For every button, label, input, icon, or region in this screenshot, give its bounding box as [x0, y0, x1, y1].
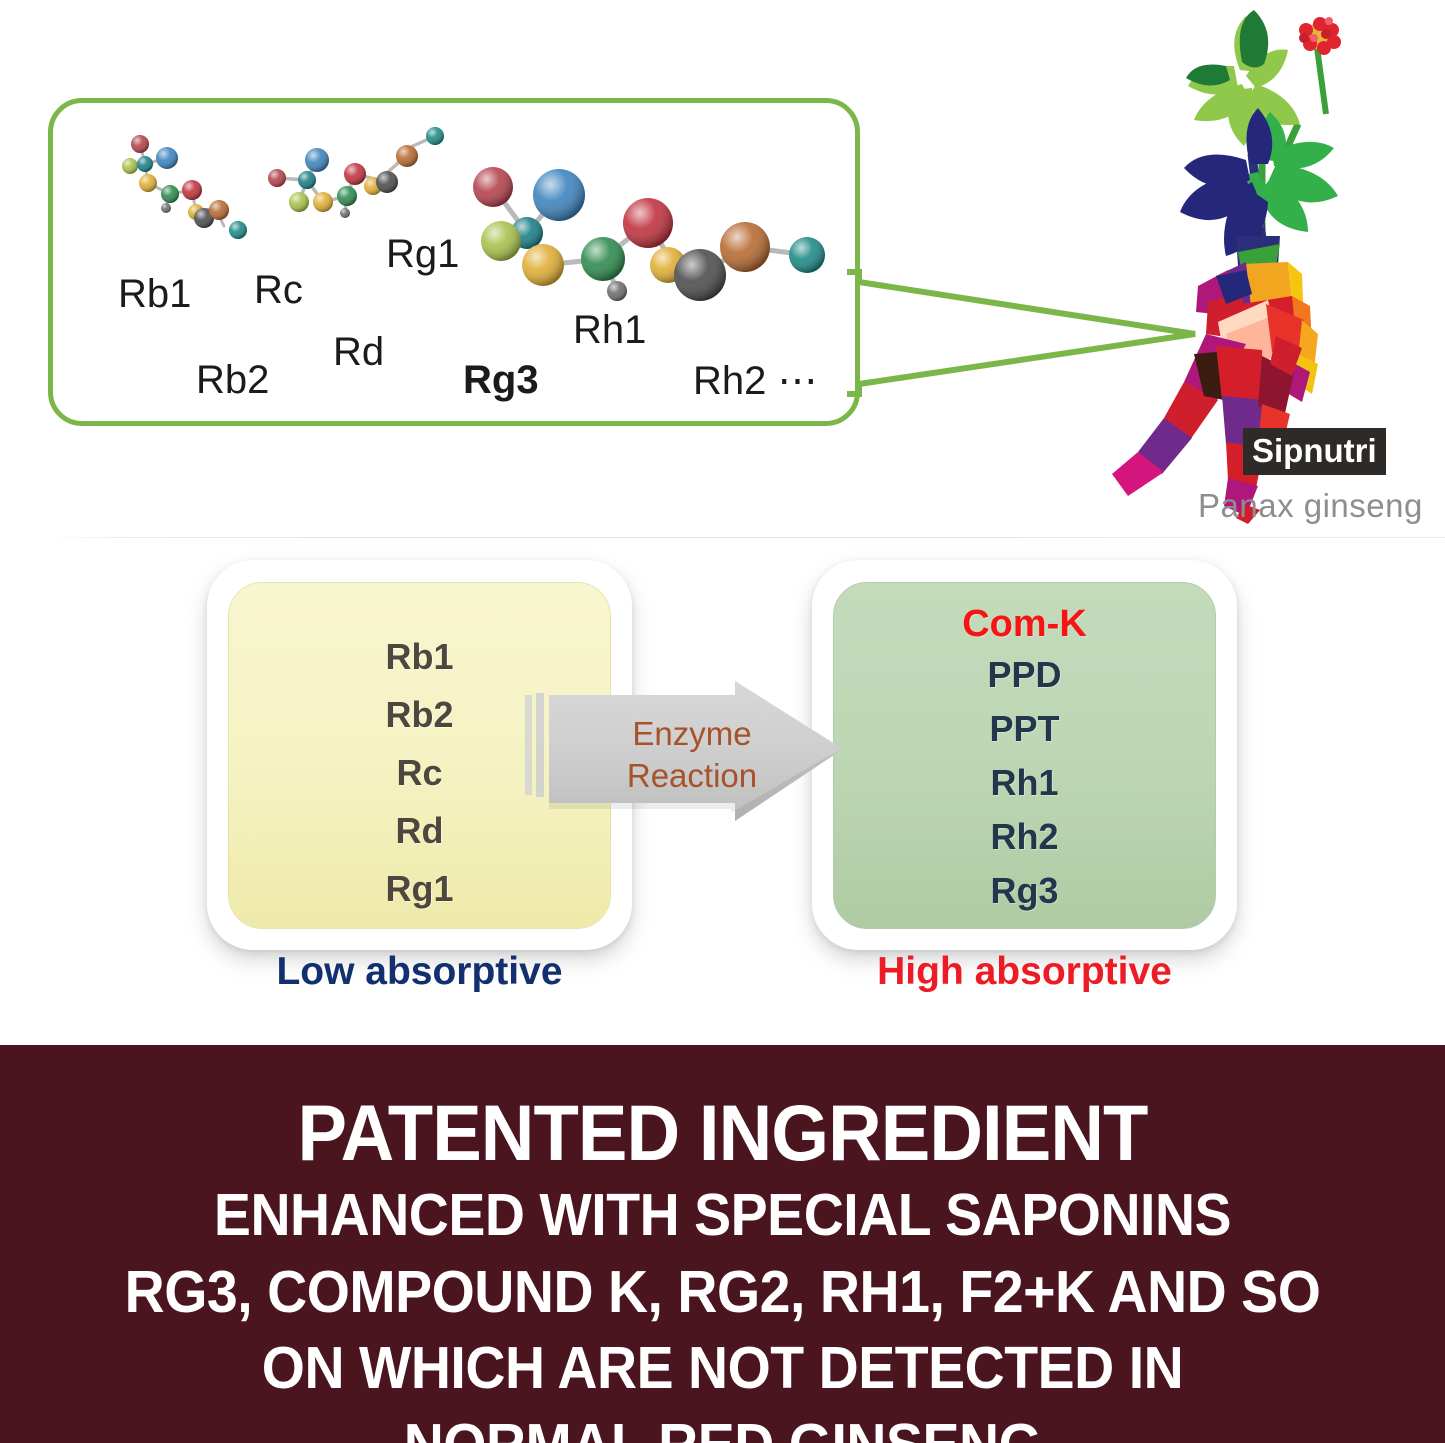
low-absorptive-caption: Low absorptive	[228, 950, 611, 994]
banner-headline: PATENTED INGREDIENT	[43, 1093, 1401, 1172]
enzyme-reaction-label: Enzyme Reaction	[597, 713, 787, 797]
high-absorptive-item: PPT	[834, 711, 1215, 747]
molecule-label-rd: Rd	[333, 330, 384, 375]
molecule-label-rh1: Rh1	[573, 308, 646, 353]
high-absorptive-item: Rh2	[834, 819, 1215, 855]
molecule-rc-rd	[255, 118, 455, 248]
low-absorptive-item: Rb1	[229, 639, 610, 675]
molecule-label-rg3: Rg3	[463, 358, 539, 403]
species-name: Panax ginseng	[1198, 487, 1423, 525]
molecule-rb1	[112, 128, 262, 246]
banner-subline-group: ENHANCED WITH SPECIAL SAPONINSRG3, COMPO…	[0, 1182, 1445, 1443]
brand-badge: Sipnutri	[1243, 428, 1386, 475]
enzyme-line-1: Enzyme	[597, 713, 787, 755]
banner-line: ON WHICH ARE NOT DETECTED IN	[43, 1335, 1401, 1402]
high-absorptive-item: PPD	[834, 657, 1215, 693]
high-absorptive-item: Rg3	[834, 873, 1215, 909]
conversion-diagram-section: Rb1Rb2RcRdRg1 Com-KPPDPPTRh1Rh2Rg3 Enzym…	[0, 538, 1445, 1045]
molecule-label-rh2: Rh2 ⋯	[693, 358, 818, 404]
molecule-label-rb1: Rb1	[118, 272, 191, 317]
com-k-heading: Com-K	[834, 605, 1215, 643]
molecule-label-rg1: Rg1	[386, 232, 459, 277]
patent-banner: PATENTED INGREDIENT ENHANCED WITH SPECIA…	[0, 1045, 1445, 1443]
high-absorptive-panel: Com-KPPDPPTRh1Rh2Rg3	[833, 582, 1216, 929]
molecule-label-rb2: Rb2	[196, 358, 269, 403]
patent-banner-text: PATENTED INGREDIENT ENHANCED WITH SPECIA…	[0, 1045, 1445, 1443]
high-absorptive-list: Com-KPPDPPTRh1Rh2Rg3	[834, 605, 1215, 927]
banner-line: RG3, COMPOUND K, RG2, RH1, F2+K AND SO	[43, 1259, 1401, 1326]
enzyme-line-2: Reaction	[597, 755, 787, 797]
molecule-rg3	[455, 155, 855, 315]
infographic-root: Rb1Rb2RcRdRg1Rg3Rh1Rh2 ⋯	[0, 0, 1445, 1443]
low-absorptive-item: Rg1	[229, 871, 610, 907]
banner-line: NORMAL RED GINSENG	[43, 1412, 1401, 1443]
high-absorptive-caption: High absorptive	[833, 950, 1216, 994]
molecule-label-rc: Rc	[254, 268, 303, 313]
top-section: Rb1Rb2RcRdRg1Rg3Rh1Rh2 ⋯	[0, 0, 1445, 538]
banner-line: ENHANCED WITH SPECIAL SAPONINS	[43, 1182, 1401, 1249]
high-absorptive-item: Rh1	[834, 765, 1215, 801]
